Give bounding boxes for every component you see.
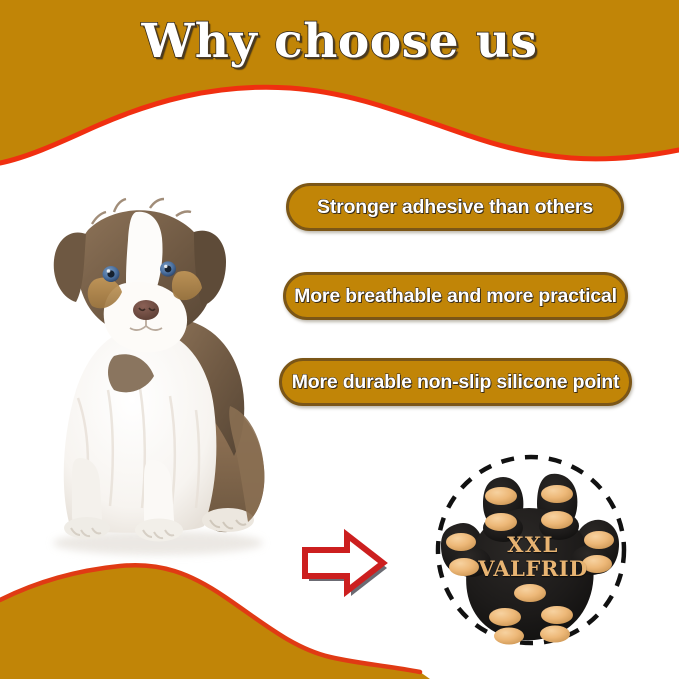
feature-pill-3-label: More durable non-slip silicone point — [292, 371, 620, 394]
silicone-dot — [449, 558, 479, 576]
silicone-dot — [485, 513, 517, 531]
infographic-canvas: Why choose us — [0, 0, 679, 679]
puppy-nose — [133, 300, 159, 320]
feature-pill-3[interactable]: More durable non-slip silicone point — [279, 358, 632, 406]
silicone-dot — [489, 608, 521, 626]
feature-pill-2[interactable]: More breathable and more practical — [283, 272, 628, 320]
top-wave-red-stroke — [0, 87, 679, 163]
silicone-dot — [485, 487, 517, 505]
puppy-image — [18, 168, 298, 568]
silicone-dot — [540, 626, 570, 643]
puppy-right-eye-glint — [164, 265, 167, 268]
feature-pill-2-label: More breathable and more practical — [294, 285, 617, 308]
silicone-dot — [582, 555, 612, 573]
silicone-dot — [514, 584, 546, 602]
paw-pad-callout — [433, 450, 629, 654]
arrow-body — [305, 535, 383, 591]
puppy-left-eye-glint — [107, 269, 111, 273]
puppy-left-ear — [54, 232, 86, 302]
silicone-dot — [541, 606, 573, 624]
silicone-dot — [494, 628, 524, 645]
silicone-dot — [584, 531, 614, 549]
silicone-dot — [446, 533, 476, 551]
feature-pill-1-label: Stronger adhesive than others — [317, 196, 593, 219]
right-arrow-icon — [299, 528, 395, 600]
feature-pill-1[interactable]: Stronger adhesive than others — [286, 183, 624, 231]
silicone-dot — [541, 511, 573, 529]
silicone-dot — [541, 485, 573, 503]
page-title: Why choose us — [0, 16, 679, 68]
